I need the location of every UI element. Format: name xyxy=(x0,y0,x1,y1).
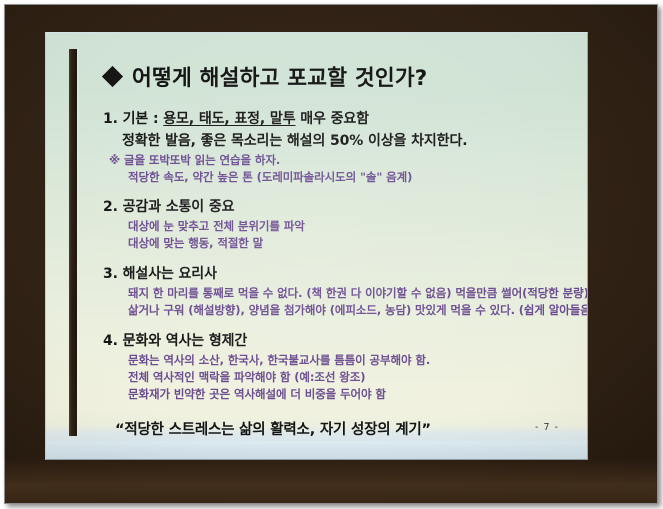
section-3: 3. 해설사는 요리사 돼지 한 마리를 통째로 먹을 수 없다. (책 한권 … xyxy=(95,263,577,318)
section-1: 1. 기본 : 용모, 태도, 표정, 말투 매우 중요함 정확한 발음, 좋은… xyxy=(95,108,577,185)
section-4-heading: 4. 문화와 역사는 형제간 xyxy=(103,330,577,350)
section-4: 4. 문화와 역사는 형제간 문화는 역사의 소산, 한국사, 한국불교사를 틈… xyxy=(95,330,577,402)
spacer-1 xyxy=(95,187,577,196)
section-1-subline-2: 적당한 속도, 약간 높은 톤 (도레미파솔라시도의 "솔" 음계) xyxy=(128,169,577,185)
section-4-subline-3: 문화재가 빈약한 곳은 역사해설에 더 비중을 두어야 함 xyxy=(128,386,577,402)
section-3-subline-2: 삶거나 구워 (해설방향), 양념을 첨가해야 (에피소드, 농담) 맛있게 먹… xyxy=(128,302,577,318)
section-2-heading: 2. 공감과 소통이 중요 xyxy=(103,196,577,216)
section-1-heading-underlined: 용모, 태도, 표정, 말투 xyxy=(163,111,295,127)
spacer-2 xyxy=(95,253,577,263)
section-4-subline-1: 문화는 역사의 소산, 한국사, 한국불교사를 틈틈이 공부해야 함. xyxy=(128,352,577,368)
page-title: 어떻게 해설하고 포교할 것인가? xyxy=(132,61,427,92)
section-4-subline-2: 전체 역사적인 맥락을 파악해야 함 (예:조선 왕조) xyxy=(128,369,577,385)
section-2: 2. 공감과 소통이 중요 대상에 눈 맞추고 전체 분위기를 파악 대상에 맞… xyxy=(95,196,577,251)
section-2-subline-1: 대상에 눈 맞추고 전체 분위기를 파악 xyxy=(128,218,577,234)
closing-quote: “적당한 스트레스는 삶의 활력소, 자기 성장의 계기” xyxy=(115,418,577,439)
section-3-subline-1: 돼지 한 마리를 통째로 먹을 수 없다. (책 한권 다 이야기할 수 없음)… xyxy=(128,285,577,301)
section-1-subline-1: ※ 글을 또박또박 읽는 연습을 하자. xyxy=(109,152,577,168)
slide-left-accent-bar xyxy=(69,49,77,436)
presentation-slide: 어떻게 해설하고 포교할 것인가? 1. 기본 : 용모, 태도, 표정, 말투… xyxy=(45,32,588,460)
section-3-heading: 3. 해설사는 요리사 xyxy=(103,263,577,283)
section-1-heading-suffix: 매우 중요함 xyxy=(295,111,368,127)
page-number: - 7 - xyxy=(535,422,559,433)
slide-footer-band xyxy=(46,441,587,459)
section-1-number: 1. xyxy=(103,111,118,127)
slide-content: 어떻게 해설하고 포교할 것인가? 1. 기본 : 용모, 태도, 표정, 말투… xyxy=(91,49,577,451)
section-2-subline-2: 대상에 맞는 행동, 적절한 말 xyxy=(128,235,577,251)
section-1-heading-prefix: 기본 : xyxy=(123,111,164,127)
slide-title-row: 어떻게 해설하고 포교할 것인가? xyxy=(105,61,577,92)
photograph-of-projected-slide: 어떻게 해설하고 포교할 것인가? 1. 기본 : 용모, 태도, 표정, 말투… xyxy=(0,0,663,509)
diamond-bullet-icon xyxy=(102,66,123,87)
spacer-3 xyxy=(95,320,577,330)
slide-body: 1. 기본 : 용모, 태도, 표정, 말투 매우 중요함 정확한 발음, 좋은… xyxy=(95,108,577,439)
photo-frame: 어떻게 해설하고 포교할 것인가? 1. 기본 : 용모, 태도, 표정, 말투… xyxy=(4,4,658,504)
section-1-second-line: 정확한 발음, 좋은 목소리는 해설의 50% 이상을 차지한다. xyxy=(122,130,577,150)
section-1-heading: 1. 기본 : 용모, 태도, 표정, 말투 매우 중요함 xyxy=(103,108,577,128)
